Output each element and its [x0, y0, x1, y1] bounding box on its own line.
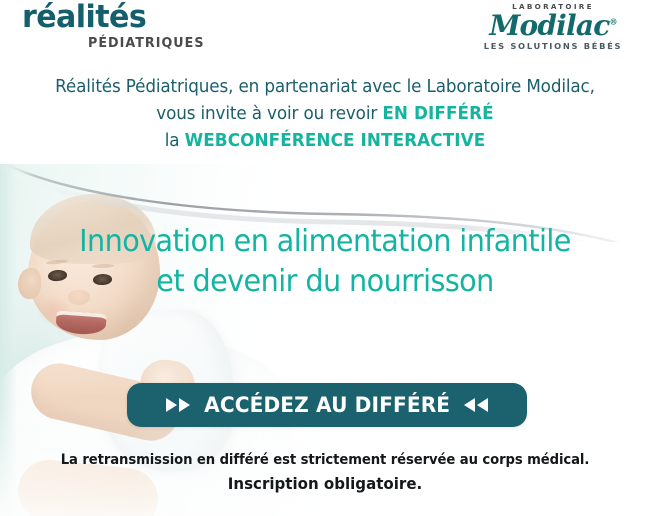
- brand-name: réalités: [22, 2, 313, 34]
- play-arrows-left-icon: [464, 398, 488, 412]
- triangle-right-icon-1: [166, 398, 177, 412]
- modilac-tagline: LES SOLUTIONS BÉBÉS: [478, 42, 628, 50]
- access-replay-button-label: ACCÉDEZ AU DIFFÉRÉ: [204, 393, 450, 417]
- intro-line-2-text: vous invite à voir ou revoir: [156, 104, 382, 124]
- title-line-2: et devenir du nourrisson: [15, 262, 636, 302]
- intro-line-1: Réalités Pédiatriques, en partenariat av…: [13, 74, 637, 101]
- intro-paragraph: Réalités Pédiatriques, en partenariat av…: [0, 74, 650, 155]
- intro-emphasis-en-differe: EN DIFFÉRÉ: [382, 104, 493, 124]
- email-promo-banner: réalités PÉDIATRIQUES LABORATOIRE Modila…: [0, 0, 650, 516]
- play-arrows-right-icon: [166, 398, 190, 412]
- intro-line-3: la WEBCONFÉRENCE INTERACTIVE: [13, 128, 637, 155]
- title-line-1: Innovation en alimentation infantile: [15, 222, 636, 262]
- footnote-line-1: La retransmission en différé est stricte…: [23, 450, 628, 471]
- modilac-wordmark: Modilac®: [489, 11, 616, 40]
- modilac-wordmark-text: Modilac: [489, 9, 609, 42]
- access-replay-button[interactable]: ACCÉDEZ AU DIFFÉRÉ: [127, 383, 527, 427]
- modilac-logo: LABORATOIRE Modilac® LES SOLUTIONS BÉBÉS: [478, 3, 628, 50]
- brand-subtitle: PÉDIATRIQUES: [88, 35, 308, 51]
- intro-line-2: vous invite à voir ou revoir EN DIFFÉRÉ: [13, 101, 637, 128]
- page-title: Innovation en alimentation infantile et …: [0, 222, 650, 301]
- realites-pediatriques-logo: réalités PÉDIATRIQUES: [22, 2, 322, 51]
- footnote: La retransmission en différé est stricte…: [0, 450, 650, 495]
- triangle-left-icon-2: [477, 398, 488, 412]
- triangle-right-icon-2: [179, 398, 190, 412]
- header: réalités PÉDIATRIQUES LABORATOIRE Modila…: [0, 0, 650, 62]
- registered-mark-icon: ®: [609, 17, 616, 27]
- intro-line-3-text: la: [165, 131, 185, 151]
- intro-emphasis-webconference: WEBCONFÉRENCE INTERACTIVE: [185, 131, 486, 151]
- triangle-left-icon-1: [464, 398, 475, 412]
- footnote-line-2: Inscription obligatoire.: [20, 472, 631, 495]
